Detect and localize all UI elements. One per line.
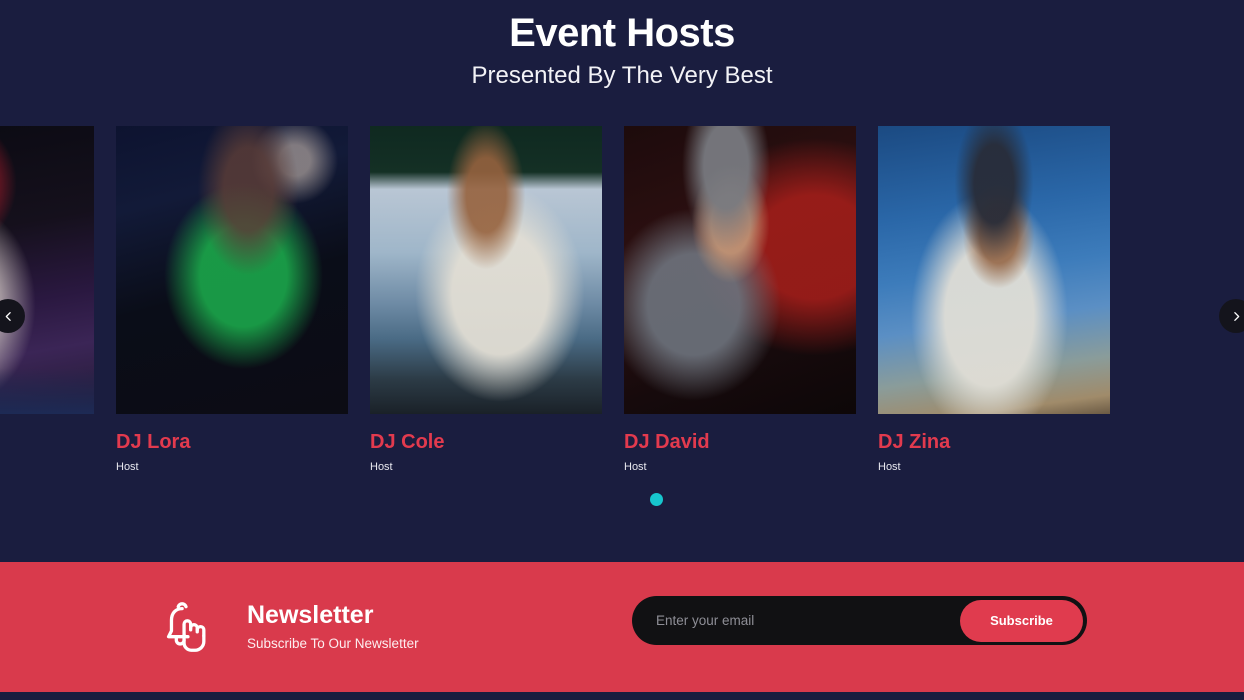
carousel-track: DJ Ode Host DJ Lora Host DJ Cole Host (0, 126, 1110, 473)
host-role: Host (0, 461, 94, 473)
section-header: Event Hosts Presented By The Very Best (0, 0, 1244, 91)
host-role: Host (878, 461, 1110, 473)
host-card[interactable]: DJ Zina Host (878, 126, 1110, 473)
bell-tap-subscribe-icon (155, 596, 217, 658)
email-field[interactable] (632, 596, 960, 645)
carousel-pagination[interactable] (0, 493, 1244, 506)
chevron-left-icon (2, 310, 15, 323)
footer-strip (0, 692, 1244, 700)
host-card[interactable]: DJ Lora Host (116, 126, 348, 473)
newsletter-section: Newsletter Subscribe To Our Newsletter S… (0, 562, 1244, 692)
host-name: DJ Cole (370, 431, 602, 453)
page-title: Event Hosts (0, 10, 1244, 56)
newsletter-form[interactable]: Subscribe (632, 596, 1087, 645)
host-role: Host (116, 461, 348, 473)
host-name: DJ Ode (0, 431, 94, 453)
newsletter-text-block: Newsletter Subscribe To Our Newsletter (247, 602, 419, 652)
host-card[interactable]: DJ David Host (624, 126, 856, 473)
pagination-dot[interactable] (650, 493, 663, 506)
host-name: DJ Lora (116, 431, 348, 453)
dj-lora-photo (116, 126, 348, 414)
dj-cole-photo (370, 126, 602, 414)
host-role: Host (624, 461, 856, 473)
newsletter-title: Newsletter (247, 602, 419, 630)
newsletter-brand: Newsletter Subscribe To Our Newsletter S… (155, 562, 1115, 692)
host-role: Host (370, 461, 602, 473)
page-root: Event Hosts Presented By The Very Best D… (0, 0, 1244, 700)
subscribe-button[interactable]: Subscribe (960, 600, 1083, 642)
newsletter-subtitle: Subscribe To Our Newsletter (247, 637, 419, 652)
host-name: DJ David (624, 431, 856, 453)
carousel-next-button[interactable] (1219, 299, 1244, 333)
host-card[interactable]: DJ Cole Host (370, 126, 602, 473)
dj-ode-photo (0, 126, 94, 414)
chevron-right-icon (1230, 310, 1243, 323)
event-hosts-section: Event Hosts Presented By The Very Best D… (0, 0, 1244, 562)
page-subtitle: Presented By The Very Best (0, 62, 1244, 91)
host-name: DJ Zina (878, 431, 1110, 453)
dj-david-photo (624, 126, 856, 414)
dj-zina-photo (878, 126, 1110, 414)
hosts-carousel[interactable]: DJ Ode Host DJ Lora Host DJ Cole Host (0, 126, 1244, 476)
